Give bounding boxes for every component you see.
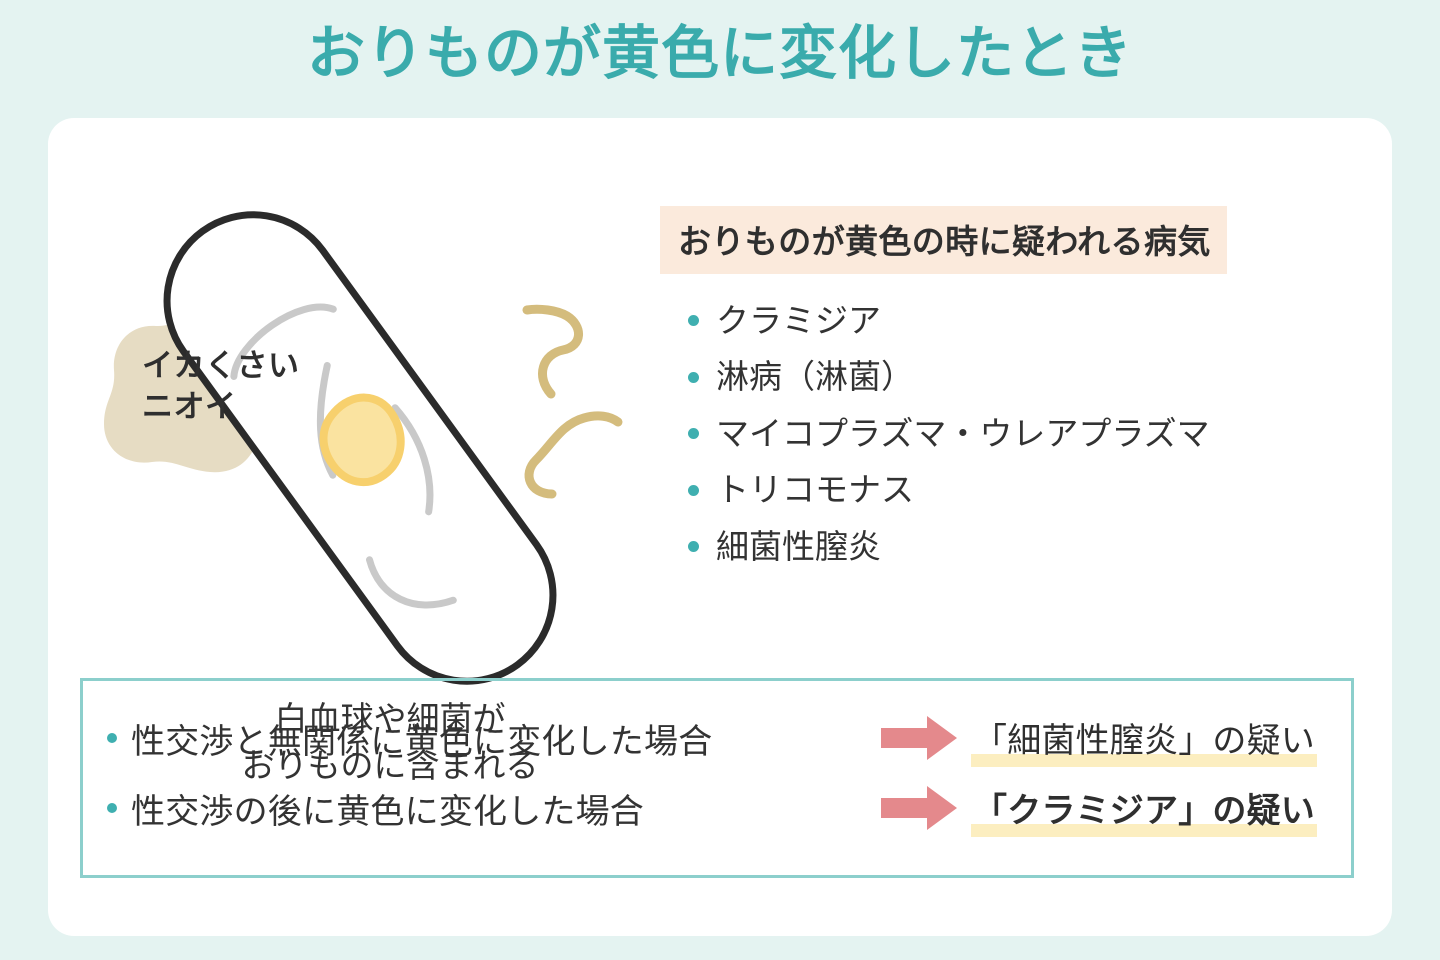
disease-label: トリコモナス [716, 463, 914, 516]
disease-panel: おりものが黄色の時に疑われる病気 クラミジア 淋病（淋菌） マイコプラズマ・ウレ… [660, 206, 1360, 576]
bullet-dot-icon [688, 541, 699, 552]
smell-label-line-1: イカくさい [142, 346, 362, 387]
result-condition: 性交渉と無関係に黄色に変化した場合 [107, 714, 867, 763]
disease-heading: おりものが黄色の時に疑われる病気 [660, 206, 1227, 274]
smell-cloud-label: イカくさい ニオイ [142, 346, 362, 428]
list-item: 淋病（淋菌） [660, 350, 1360, 403]
condition-label: 性交渉の後に黄色に変化した場合 [131, 784, 644, 833]
arrow-cell [867, 716, 971, 760]
bullet-dot-icon [107, 733, 117, 743]
verdict-label: 「細菌性膣炎」の疑い [973, 722, 1315, 760]
right-arrow-icon [881, 716, 957, 760]
bullet-dot-icon [688, 315, 699, 326]
arrow-cell [867, 786, 971, 830]
list-item: クラミジア [660, 294, 1360, 347]
list-item: マイコプラズマ・ウレアプラズマ [660, 407, 1360, 460]
main-card: イカくさい ニオイ 白血球や細菌が おりものに含まれる おりものが黄色の時に疑わ… [48, 118, 1392, 936]
bullet-dot-icon [688, 485, 699, 496]
result-verdict: 「クラミジア」の疑い [971, 783, 1317, 834]
disease-label: マイコプラズマ・ウレアプラズマ [716, 407, 1210, 460]
disease-label: 淋病（淋菌） [716, 350, 914, 403]
odor-wave-icon-lower [529, 416, 618, 494]
bullet-dot-icon [688, 372, 699, 383]
disease-label: 細菌性膣炎 [716, 520, 881, 573]
illustration-panel: イカくさい ニオイ 白血球や細菌が おりものに含まれる [60, 148, 660, 688]
condition-label: 性交渉と無関係に黄色に変化した場合 [131, 714, 712, 763]
disease-list: クラミジア 淋病（淋菌） マイコプラズマ・ウレアプラズマ トリコモナス 細菌性膣… [660, 294, 1360, 573]
result-row: 性交渉の後に黄色に変化した場合 「クラミジア」の疑い [107, 779, 1329, 837]
disease-label: クラミジア [716, 294, 881, 347]
result-verdict: 「細菌性膣炎」の疑い [971, 713, 1317, 764]
page-title: おりものが黄色に変化したとき [0, 22, 1440, 86]
odor-wave-icon-upper [527, 309, 579, 394]
verdict-label: 「クラミジア」の疑い [973, 792, 1315, 830]
result-condition: 性交渉の後に黄色に変化した場合 [107, 784, 867, 833]
right-arrow-icon [881, 786, 957, 830]
bullet-dot-icon [688, 428, 699, 439]
result-box: 性交渉と無関係に黄色に変化した場合 「細菌性膣炎」の疑い 性交渉の後に黄色に変化… [80, 678, 1354, 878]
smell-label-line-2: ニオイ [142, 387, 362, 428]
list-item: 細菌性膣炎 [660, 520, 1360, 573]
result-row: 性交渉と無関係に黄色に変化した場合 「細菌性膣炎」の疑い [107, 709, 1329, 767]
list-item: トリコモナス [660, 463, 1360, 516]
bullet-dot-icon [107, 803, 117, 813]
